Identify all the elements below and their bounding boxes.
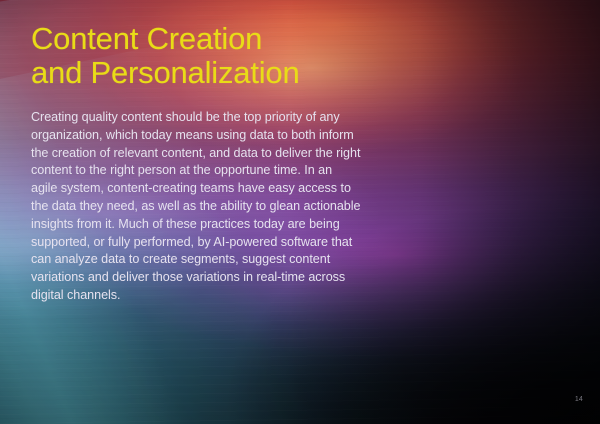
slide-content: Content Creation and Personalization Cre… <box>31 22 371 305</box>
slide-body-text: Creating quality content should be the t… <box>31 109 361 305</box>
presentation-slide: Content Creation and Personalization Cre… <box>0 0 600 424</box>
slide-title: Content Creation and Personalization <box>31 22 371 90</box>
page-number: 14 <box>575 395 583 404</box>
